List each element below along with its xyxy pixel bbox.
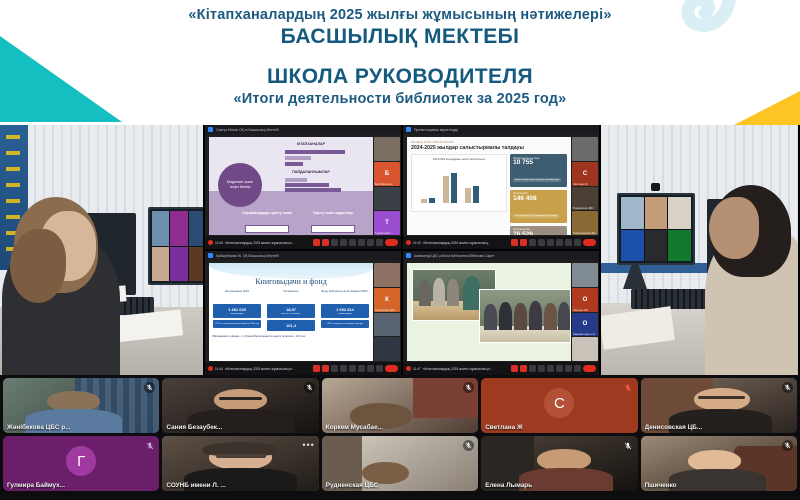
metric-box: 18,97 книг на 1 читателя <box>267 304 315 318</box>
slide-block-right-title: Оқыту және қадағалау <box>303 211 363 215</box>
metric-value: 1 092 814 <box>322 307 368 312</box>
filmstrip-name: Таранновская ЦБС <box>573 232 597 235</box>
participants-button[interactable] <box>538 365 545 372</box>
kpi-value: 76 526 <box>513 232 564 235</box>
kpi-footer: Жыл бойынша 12,4% көрсеткіш өсімі тіркел… <box>513 214 559 218</box>
participant-filmstrip: ООзерное ЦБ ОСарыкөл ауыл к-сі <box>572 263 598 361</box>
stop-video-button[interactable] <box>322 239 329 246</box>
participant-tile[interactable]: Сания Безаубек... <box>162 378 318 433</box>
slide-chart1-title: КІТАПХАНАЛАР <box>271 142 351 146</box>
avatar-initial: Г <box>77 453 85 470</box>
kpi-value: 10 755 <box>513 160 564 167</box>
toolbar-title: «Кітапханалардың 2025 жылғы жұмысының н.… <box>225 367 295 371</box>
participant-tile[interactable]: Пшиченко <box>641 436 797 491</box>
window-title: Қайырбекова Ж. ОҚ Басшылық Мектебі <box>216 254 279 258</box>
participant-tile[interactable]: Рудненская ЦБС <box>322 436 478 491</box>
participant-tile[interactable]: Жәнібекова ЦБС р... <box>3 378 159 433</box>
zoom-toolbar[interactable]: 11:43 «Кітапханалардың 2025 жылғы жұмысы… <box>403 236 599 249</box>
slide-chart2-title: ПАЙДАЛАНУШЫЛАР <box>271 170 351 174</box>
recording-indicator-icon <box>208 240 213 245</box>
zoom-screenshot-dashboard: Презентацияны көрсетілуде ЖЫЛДЫҚ ЕСЕП КӨ… <box>403 125 599 249</box>
slide-title: 2024-2025 жылдар салыстырмалы талдауы <box>411 145 567 151</box>
participant-name: СОУНБ имени Л. ... <box>166 482 314 489</box>
zoom-screenshots-grid: Саягүл Махан ОҚ-ні Басшылық Мектебі Мәде… <box>205 125 599 375</box>
participant-name: Гулмира Баймух... <box>7 482 155 489</box>
slide-block-left-title: Оқырмандарды қамту саны <box>237 211 297 215</box>
chat-button[interactable] <box>547 239 554 246</box>
toolbar-title: «Кітапханалардың 2025 жылғы жұмысының н.… <box>423 367 493 371</box>
record-button[interactable] <box>565 365 572 372</box>
participants-button[interactable] <box>340 239 347 246</box>
workstation-photo-right <box>601 125 798 375</box>
zoom-screenshot-analysis: Саягүл Махан ОҚ-ні Басшылық Мектебі Мәде… <box>205 125 401 249</box>
participant-filmstrip: ССветлана Ж Рудненская ЦБС Таранновская … <box>572 137 598 235</box>
stop-video-button[interactable] <box>520 365 527 372</box>
mute-button[interactable] <box>313 365 320 372</box>
photo-collage: Саягүл Махан ОҚ-ні Басшылық Мектебі Мәде… <box>0 125 800 375</box>
recording-indicator-icon <box>406 240 411 245</box>
zoom-app-icon <box>406 127 411 132</box>
more-button[interactable] <box>376 239 383 246</box>
end-meeting-button[interactable] <box>583 365 596 372</box>
header-banner: «Кітапханалардың 2025 жылғы жұмысының нә… <box>0 0 800 125</box>
toolbar-time: 11:47 <box>413 367 421 371</box>
window-title: Саягүл Махан ОҚ-ні Басшылық Мектебі <box>216 128 279 132</box>
recording-indicator-icon <box>406 366 411 371</box>
zoom-screenshot-fond: Қайырбекова Ж. ОҚ Басшылық Мектебі Книго… <box>205 251 401 375</box>
end-meeting-button[interactable] <box>583 239 596 246</box>
metric-box: 1 481 025 экземпляров <box>213 304 261 318</box>
end-meeting-button[interactable] <box>385 365 398 372</box>
chat-button[interactable] <box>547 365 554 372</box>
metric-value: 99 % сохранности книжного фонда <box>322 323 368 325</box>
participant-filmstrip: ККарасуская ЦБС <box>374 263 400 361</box>
window-title: Аманкелді ЦБС работа библиотек Айбекова … <box>414 254 494 258</box>
metric-box: 99 % сохранности книжного фонда <box>321 320 369 329</box>
slide-column: Фонд библиотек на 01 января 2025 г. 1 09… <box>321 290 369 331</box>
kpi-label: Кітап берілді <box>513 192 564 195</box>
microphone-muted-icon <box>782 382 793 393</box>
mute-button[interactable] <box>313 239 320 246</box>
chat-button[interactable] <box>349 239 356 246</box>
avatar-initial: С <box>554 395 565 412</box>
participant-name: Светлана Ж <box>485 424 633 431</box>
workstation-photo-left <box>0 125 203 375</box>
kpi-card: Кітап берілді 146 408 Жыл бойынша 12,4% … <box>510 190 567 223</box>
record-button[interactable] <box>367 365 374 372</box>
zoom-app-icon <box>406 253 411 258</box>
column-heading: Фонд библиотек на 01 января 2025 г. <box>321 290 369 302</box>
metric-value: 101,4 <box>268 323 314 328</box>
column-heading: Книговыдача 2024 <box>213 290 261 302</box>
chart-title: 2024-2025 жылдардағы негізгі көрсеткіште… <box>415 158 503 161</box>
participant-tiles-grid: Жәнібекова ЦБС р... Сания Безаубек... Ко… <box>0 375 800 500</box>
metric-value: 18,97 <box>268 307 314 312</box>
participants-button[interactable] <box>340 365 347 372</box>
participants-button[interactable] <box>538 239 545 246</box>
share-screen-button[interactable] <box>358 239 365 246</box>
filmstrip-name: Бас Облыстық <box>375 183 399 186</box>
stop-video-button[interactable] <box>520 239 527 246</box>
metric-box: 1 092 814 экземпляров <box>321 304 369 318</box>
zoom-app-icon <box>208 127 213 132</box>
end-meeting-button[interactable] <box>385 239 398 246</box>
record-button[interactable] <box>367 239 374 246</box>
mute-button[interactable] <box>511 365 518 372</box>
zoom-screenshot-events: Аманкелді ЦБС работа библиотек Айбекова … <box>403 251 599 375</box>
kpi-label: Кітапхана қоры <box>513 228 564 231</box>
more-button[interactable] <box>574 365 581 372</box>
zoom-toolbar[interactable]: 11:44 «Кітапханалардың 2025 жылғы жұмысы… <box>205 362 401 375</box>
microphone-muted-icon <box>304 382 315 393</box>
more-button[interactable] <box>574 239 581 246</box>
kpi-value: 146 408 <box>513 196 564 203</box>
window-titlebar: Аманкелді ЦБС работа библиотек Айбекова … <box>403 251 599 260</box>
metric-caption: экземпляров <box>322 313 368 315</box>
microphone-muted-icon <box>782 440 793 451</box>
metric-value: 78 % от плановых показателей на 2024 год <box>214 323 260 325</box>
participant-name: Пшиченко <box>645 482 793 489</box>
filmstrip-name: Рудненская ЦБС <box>573 207 597 210</box>
avatar: С <box>544 388 574 418</box>
zoom-app-icon <box>208 253 213 258</box>
slide-title: Книговыдачи и фонд <box>212 277 370 286</box>
toolbar-title: «Кітапханалардың 2025 жылғы жұмысының... <box>423 241 490 245</box>
slide-photo-group <box>479 289 571 343</box>
window-titlebar: Саягүл Махан ОҚ-ні Басшылық Мектебі <box>205 125 401 134</box>
shared-slide: Мәдениет және спорт бөлімі КІТАПХАНАЛАР … <box>209 137 373 235</box>
participant-name: Жәнібекова ЦБС р... <box>7 424 155 431</box>
shared-slide: ЖЫЛДЫҚ ЕСЕП КӨРСЕТКІШТЕРІ 2024-2025 жылд… <box>407 137 571 235</box>
toolbar-time: 11:43 <box>413 241 421 245</box>
mute-button[interactable] <box>511 239 518 246</box>
kpi-footer: Өткен жылмен салыстырғанда өсім байқалад… <box>513 178 561 182</box>
share-screen-button[interactable] <box>556 239 563 246</box>
microphone-muted-icon <box>623 382 634 393</box>
tile-more-options-icon[interactable]: ••• <box>302 440 314 450</box>
metric-box: 78 % от плановых показателей на 2024 год <box>213 320 261 329</box>
column-heading: Читаемость <box>267 290 315 302</box>
share-screen-button[interactable] <box>358 365 365 372</box>
participant-name: Сания Безаубек... <box>166 424 314 431</box>
record-button[interactable] <box>565 239 572 246</box>
security-button[interactable] <box>529 239 536 246</box>
header-title-kk: БАСШЫЛЫҚ МЕКТЕБІ <box>0 25 800 49</box>
filmstrip-name: Тұрмағамбет <box>375 232 399 235</box>
slide-column: Книговыдача 2024 1 481 025 экземпляров 7… <box>213 290 261 331</box>
participant-name: Коркем Мусабае... <box>326 424 474 431</box>
metric-box: 101,4 <box>267 320 315 331</box>
header-subtitle-ru: «Итоги деятельности библиотек за 2025 го… <box>0 91 800 107</box>
toolbar-time: 11:06 <box>215 241 223 245</box>
slide-column: Читаемость 18,97 книг на 1 читателя 101,… <box>267 290 315 331</box>
kpi-card: Пайдаланушылар саны 10 755 Өткен жылмен … <box>510 154 567 187</box>
shared-slide: Книговыдачи и фонд Книговыдача 2024 1 48… <box>209 263 373 361</box>
shared-slide <box>407 263 571 361</box>
poster-root: «Кітапханалардың 2025 жылғы жұмысының нә… <box>0 0 800 500</box>
participant-name: Денисовская ЦБ... <box>645 424 793 431</box>
participant-tile-active-speaker[interactable]: ••• СОУНБ имени Л. ... <box>162 436 318 491</box>
zoom-toolbar[interactable]: 11:06 «Кітапханалардың 2025 жылғы жұмысы… <box>205 236 401 249</box>
security-button[interactable] <box>529 365 536 372</box>
slide-center-label: Мәдениет және спорт бөлімі <box>218 163 262 207</box>
filmstrip-name: Светлана Ж <box>573 183 597 186</box>
metric-caption: экземпляров <box>214 313 260 315</box>
share-screen-button[interactable] <box>556 365 563 372</box>
header-subtitle-kk: «Кітапханалардың 2025 жылғы жұмысының нә… <box>0 7 800 23</box>
participant-name: Рудненская ЦБС <box>326 482 474 489</box>
security-button[interactable] <box>331 239 338 246</box>
participant-tile[interactable]: Г Гулмира Баймух... <box>3 436 159 491</box>
zoom-toolbar[interactable]: 11:47 «Кітапханалардың 2025 жылғы жұмысы… <box>403 362 599 375</box>
microphone-muted-icon <box>144 440 155 451</box>
window-title: Презентацияны көрсетілуде <box>414 128 458 132</box>
toolbar-title: «Кітапханалардың 2025 жылғы жұмысының н.… <box>225 241 295 245</box>
chat-button[interactable] <box>349 365 356 372</box>
filmstrip-name: Озерное ЦБ <box>573 309 597 312</box>
kpi-label: Пайдаланушылар саны <box>513 157 564 160</box>
participant-tile[interactable]: Денисовская ЦБ... <box>641 378 797 433</box>
metric-value: 1 481 025 <box>214 307 260 312</box>
header-title-ru: ШКОЛА РУКОВОДИТЕЛЯ <box>0 65 800 89</box>
filmstrip-name: Карасуская ЦБС <box>375 309 399 312</box>
comparison-bar-chart: 2024-2025 жылдардағы негізгі көрсеткіште… <box>411 154 507 212</box>
filmstrip-name: Сарыкөл ауыл к-сі <box>573 333 597 336</box>
participant-tile[interactable]: Елена Лымарь <box>481 436 637 491</box>
more-button[interactable] <box>376 365 383 372</box>
slide-footer: Обращаемость фонда – 1,3 Книгообеспеченн… <box>212 335 370 339</box>
avatar: Г <box>66 446 96 476</box>
participant-tile[interactable]: С Светлана Ж <box>481 378 637 433</box>
microphone-muted-icon <box>623 440 634 451</box>
window-titlebar: Презентацияны көрсетілуде <box>403 125 599 134</box>
participant-filmstrip: ББас Облыстық ТТұрмағамбет <box>374 137 400 235</box>
kpi-card: Кітапхана қоры 76 526 Жаңа түсімдер есеб… <box>510 226 567 235</box>
toolbar-time: 11:44 <box>215 367 223 371</box>
slide-eyebrow: ЖЫЛДЫҚ ЕСЕП КӨРСЕТКІШТЕРІ <box>411 141 567 144</box>
security-button[interactable] <box>331 365 338 372</box>
participant-tile[interactable]: Коркем Мусабае... <box>322 378 478 433</box>
participant-name: Елена Лымарь <box>485 482 633 489</box>
window-titlebar: Қайырбекова Ж. ОҚ Басшылық Мектебі <box>205 251 401 260</box>
stop-video-button[interactable] <box>322 365 329 372</box>
recording-indicator-icon <box>208 366 213 371</box>
metric-caption: книг на 1 читателя <box>268 313 314 315</box>
